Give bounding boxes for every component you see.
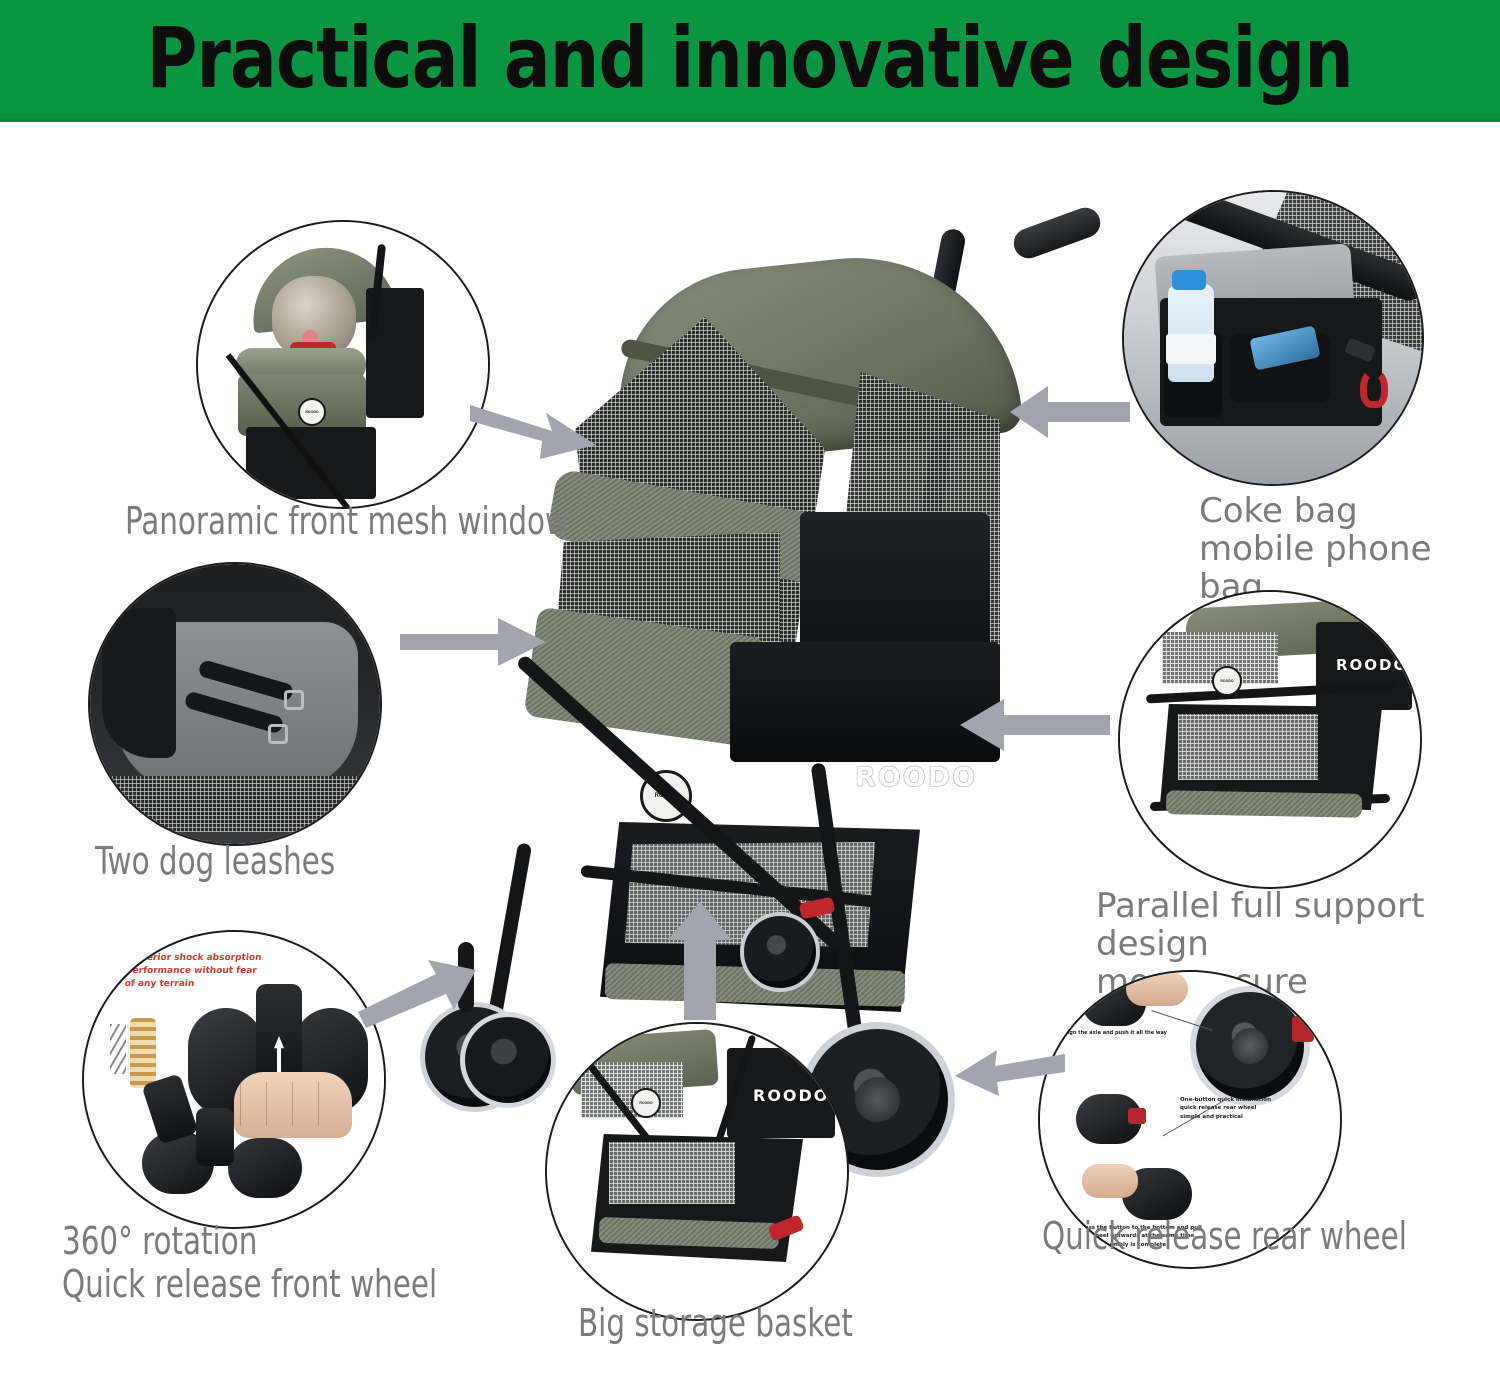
arrow-front-wheel-to-product [358,952,478,1032]
basket-roodo-badge-icon: ROODO [631,1088,661,1118]
inset-roodo-badge-text: ROODO [305,410,318,414]
inset-image-coke-bag [1124,192,1422,484]
support-mesh-panel [1178,714,1318,780]
inset-front-wheel: Superior shock absorption performance wi… [82,930,386,1229]
caption-big-storage-basket: Big storage basket [578,1302,853,1345]
step2-label: One-button quick installation quick rele… [1180,1096,1316,1121]
rear-wheel-hub [855,1077,900,1122]
inset-coke-bag [1122,190,1424,486]
basket-brand-label: ROODO [753,1086,829,1105]
handle-grip [1010,204,1105,263]
inset-image-parallel-support: ROODO ROODO [1120,592,1420,887]
wheel-lower-b [228,1138,302,1198]
spring-impact-lines [110,1024,126,1074]
arrow-coke-bag-to-product [1010,384,1130,444]
support-roodo-badge-text: ROODO [1220,679,1233,683]
inset-image-panoramic: ROODO [198,222,488,507]
caption-front-wheel: 360° rotation Quick release front wheel [62,1220,437,1305]
bottle-label [1166,334,1216,364]
step1-hand-icon [1126,972,1188,1006]
inset-two-dog-leashes [88,562,382,846]
hand-fingers [240,1082,344,1126]
step3-hand-icon [1082,1164,1138,1198]
arrow-rear-wheel-to-product [955,1042,1065,1102]
basket-roodo-badge-text: ROODO [639,1101,652,1105]
bottle-cap [1172,270,1206,290]
inset-parallel-full-support: ROODO ROODO [1118,590,1422,889]
inset-image-storage-basket: ROODO ROODO [547,1024,847,1319]
leash-clip-2 [268,724,288,744]
product-brand-label: ROODO [855,762,977,793]
inset-image-front-wheel: Superior shock absorption performance wi… [84,932,384,1227]
inset-panoramic-front-mesh-window: ROODO [196,220,490,509]
arrow-leashes-to-product [400,612,550,682]
infographic-stage: ROODO ROODO [0,122,1500,1395]
basket-mesh-panel [609,1142,735,1204]
red-hook-icon [1360,368,1388,408]
caption-panoramic-front-mesh-window: Panoramic front mesh window [125,500,569,543]
wheel-lower-stem [196,1108,234,1166]
caption-two-dog-leashes: Two dog leashes [95,840,335,883]
leash-basket-mesh [108,776,358,832]
support-bottom-rim [1166,790,1362,817]
caption-quick-release-rear-wheel: Quick release rear wheel [1042,1215,1407,1258]
leash-clip-1 [284,690,304,710]
caption-coke-bag: Coke bag mobile phone bag [1199,492,1500,606]
arrow-panoramic-to-product [470,387,600,467]
main-rear-wheel-hub [1232,1028,1268,1064]
water-bottle [1168,284,1214,382]
leash-side-wall [102,608,176,758]
rear-wheel-small [740,912,820,992]
inset-big-storage-basket: ROODO ROODO [545,1022,849,1321]
header-banner: Practical and innovative design [0,0,1500,122]
spring-icon [130,1018,156,1088]
support-brand-label: ROODO [1336,656,1408,674]
inset-image-leashes [90,564,380,844]
main-rear-wheel-axle-red [1292,1016,1314,1042]
step2-red-button [1128,1108,1146,1124]
support-roodo-badge-icon: ROODO [1212,666,1242,696]
arrow-basket-to-product [660,902,740,1022]
step1-label: Align the axle and push it all the way [1062,1030,1167,1037]
arrow-parallel-support-to-product [960,697,1110,757]
page-title: Practical and innovative design [147,16,1353,106]
inset-roodo-badge-icon: ROODO [298,398,326,426]
